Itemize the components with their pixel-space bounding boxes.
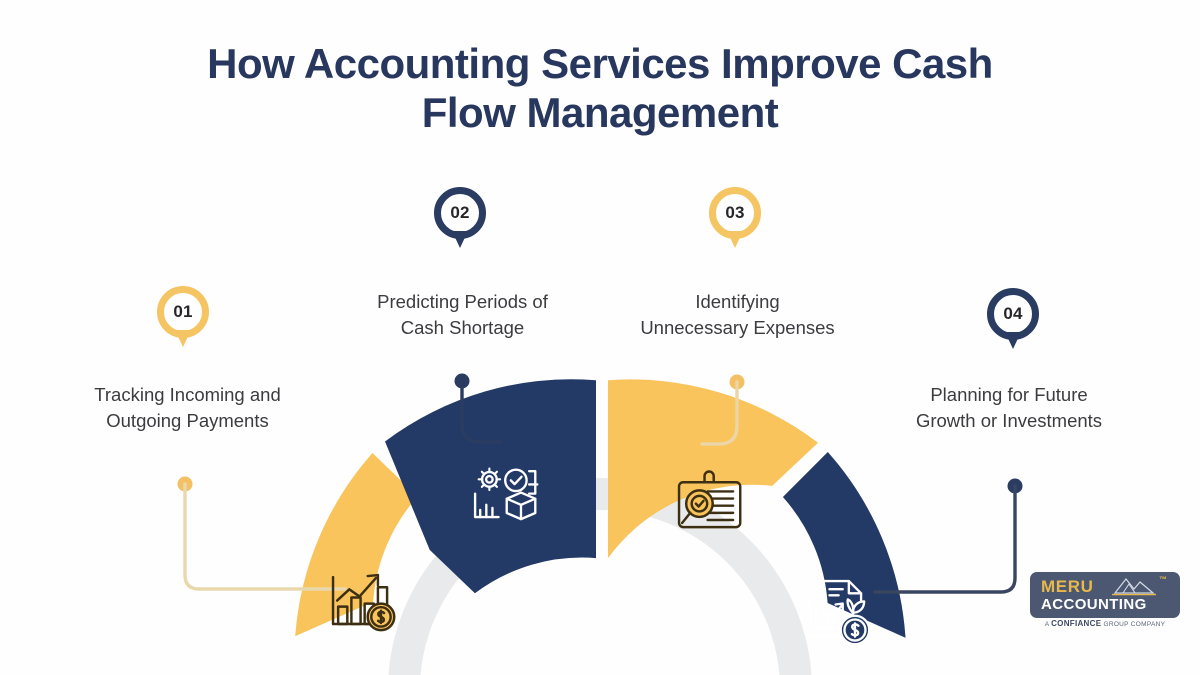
infographic-canvas: How Accounting Services Improve Cash Flo… [0, 0, 1200, 675]
pin-marker-04[interactable]: 04 [987, 288, 1049, 362]
step-label-03-line1: Identifying [605, 289, 870, 315]
step-label-04: Planning for Future Growth or Investment… [875, 382, 1143, 435]
step-label-02-line2: Cash Shortage [330, 315, 595, 341]
logo-tagline-suffix: GROUP COMPANY [1101, 621, 1165, 628]
logo-name-bottom: ACCOUNTING [1041, 596, 1147, 613]
pin-marker-01[interactable]: 01 [157, 286, 219, 360]
step-label-01-line2: Outgoing Payments [40, 408, 335, 434]
donut-segment-4[interactable] [783, 452, 906, 638]
logo-tagline-brand: CONFIANCE [1051, 619, 1101, 628]
step-label-02: Predicting Periods of Cash Shortage [330, 289, 595, 342]
logo-name-top: MERU [1041, 577, 1093, 597]
pin-number-02: 02 [434, 187, 486, 239]
step-label-04-line2: Growth or Investments [875, 408, 1143, 434]
meru-accounting-logo[interactable]: MERU ™ ACCOUNTING A CONFIANCE GROUP COMP… [1030, 572, 1180, 630]
step-label-04-line1: Planning for Future [875, 382, 1143, 408]
step-label-03-line2: Unnecessary Expenses [605, 315, 870, 341]
logo-tagline: A CONFIANCE GROUP COMPANY [1030, 619, 1180, 628]
logo-trademark: ™ [1159, 575, 1167, 584]
pin-number-01: 01 [157, 286, 209, 338]
connector-4 [875, 479, 1023, 593]
pin-number-04: 04 [987, 288, 1039, 340]
step-label-03: Identifying Unnecessary Expenses [605, 289, 870, 342]
step-label-01: Tracking Incoming and Outgoing Payments [40, 382, 335, 435]
step-label-01-line1: Tracking Incoming and [40, 382, 335, 408]
pin-number-03: 03 [709, 187, 761, 239]
step-label-02-line1: Predicting Periods of [330, 289, 595, 315]
pin-marker-02[interactable]: 02 [434, 187, 496, 261]
pin-marker-03[interactable]: 03 [709, 187, 771, 261]
donut-segment-1[interactable] [295, 453, 417, 636]
mountain-icon [1112, 576, 1156, 596]
